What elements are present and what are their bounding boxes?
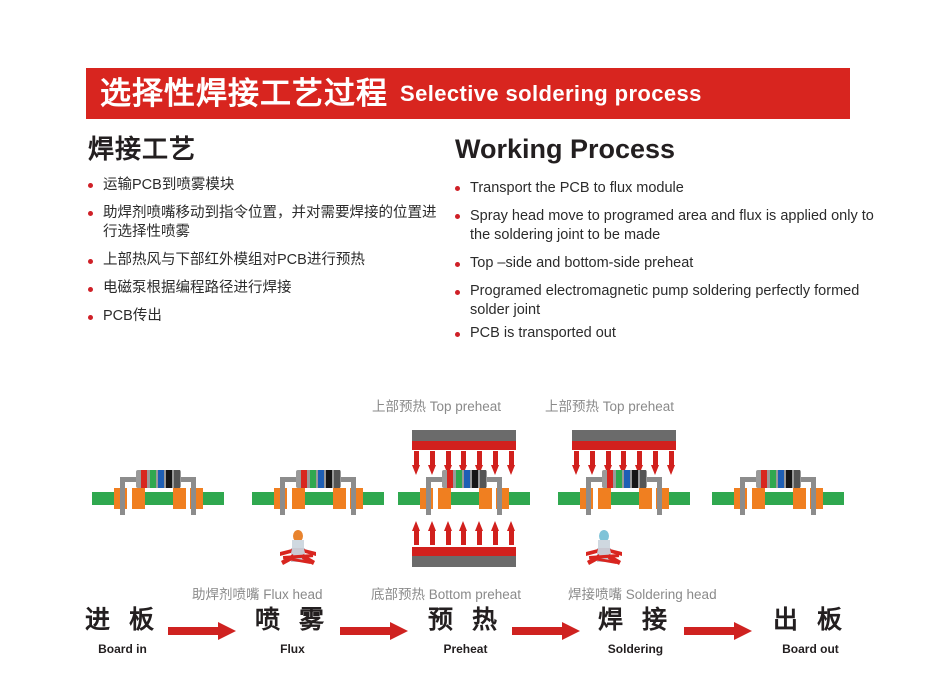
left-column-bullet-list: 运输PCB到喷雾模块 助焊剂喷嘴移动到指令位置，并对需要焊接的位置进行选择性喷雾…	[88, 176, 450, 327]
top-preheat-bar-icon	[412, 430, 516, 450]
list-item: Spray head move to programed area and fl…	[455, 207, 875, 245]
pcb-assembly-icon	[252, 463, 384, 515]
soldering-station	[558, 385, 690, 585]
board-in-station	[92, 385, 224, 585]
right-column-title: Working Process	[455, 135, 875, 165]
list-item: 电磁泵根据编程路径进行焊接	[88, 279, 450, 298]
flow-step-label-en: Board in	[85, 643, 160, 655]
diagram-label: 助焊剂喷嘴 Flux head	[192, 583, 323, 603]
flow-step[interactable]: 进 板Board in	[85, 608, 160, 655]
flow-step-label-en: Soldering	[598, 643, 673, 655]
pcb-assembly-icon	[398, 463, 530, 515]
process-flow-bar: 进 板Board in喷 雾Flux预 热Preheat焊 接Soldering…	[0, 608, 950, 678]
bottom-preheat-bar-icon	[412, 547, 516, 567]
flow-step-label-cn: 出 板	[773, 608, 848, 633]
flow-arrow-icon	[168, 622, 236, 640]
flow-step[interactable]: 焊 接Soldering	[598, 608, 673, 655]
left-column-title: 焊接工艺	[88, 135, 450, 164]
flux-station	[252, 385, 384, 585]
flux-head-icon	[278, 528, 318, 572]
flow-step[interactable]: 出 板Board out	[773, 608, 848, 655]
list-item: PCB is transported out	[455, 324, 875, 343]
board-out-station	[712, 385, 844, 585]
flow-step-label-cn: 进 板	[85, 608, 160, 633]
banner-title-cn: 选择性焊接工艺过程	[100, 78, 388, 109]
list-item: Programed electromagnetic pump soldering…	[455, 282, 875, 320]
preheat-station	[398, 385, 530, 585]
list-item: 上部热风与下部红外模组对PCB进行预热	[88, 251, 450, 270]
flow-step-label-en: Flux	[255, 643, 330, 655]
diagram-label: 底部预热 Bottom preheat	[371, 583, 521, 603]
list-item: Transport the PCB to flux module	[455, 179, 875, 198]
flow-arrow-icon	[512, 622, 580, 640]
flow-step[interactable]: 预 热Preheat	[428, 608, 503, 655]
banner-title-en: Selective soldering process	[400, 83, 702, 105]
right-column-bullet-list: Transport the PCB to flux module Spray h…	[455, 179, 875, 344]
heat-arrows-up-icon	[412, 521, 516, 545]
header-banner: 选择性焊接工艺过程 Selective soldering process	[78, 68, 850, 119]
list-item: 助焊剂喷嘴移动到指令位置，并对需要焊接的位置进行选择性喷雾	[88, 204, 450, 242]
flow-step-label-en: Board out	[773, 643, 848, 655]
soldering-head-icon	[584, 528, 624, 572]
process-diagram: 上部预热 Top preheat上部预热 Top preheat 助焊剂喷嘴 F…	[0, 385, 950, 610]
left-column: 焊接工艺 运输PCB到喷雾模块 助焊剂喷嘴移动到指令位置，并对需要焊接的位置进行…	[88, 135, 450, 335]
diagram-label: 焊接喷嘴 Soldering head	[568, 583, 717, 603]
flow-arrow-icon	[684, 622, 752, 640]
list-item: PCB传出	[88, 307, 450, 326]
flow-step-label-en: Preheat	[428, 643, 503, 655]
banner-accent-bar	[78, 68, 86, 119]
pcb-assembly-icon	[92, 463, 224, 515]
pcb-assembly-icon	[712, 463, 844, 515]
list-item: 运输PCB到喷雾模块	[88, 176, 450, 195]
right-column: Working Process Transport the PCB to flu…	[455, 135, 875, 353]
flow-step[interactable]: 喷 雾Flux	[255, 608, 330, 655]
pcb-assembly-icon	[558, 463, 690, 515]
flow-arrow-icon	[340, 622, 408, 640]
slide-page: 选择性焊接工艺过程 Selective soldering process 焊接…	[0, 0, 950, 681]
flow-step-label-cn: 预 热	[428, 608, 503, 633]
top-preheat-bar-icon	[572, 430, 676, 450]
flow-step-label-cn: 焊 接	[598, 608, 673, 633]
list-item: Top –side and bottom-side preheat	[455, 254, 875, 273]
flow-step-label-cn: 喷 雾	[255, 608, 330, 633]
